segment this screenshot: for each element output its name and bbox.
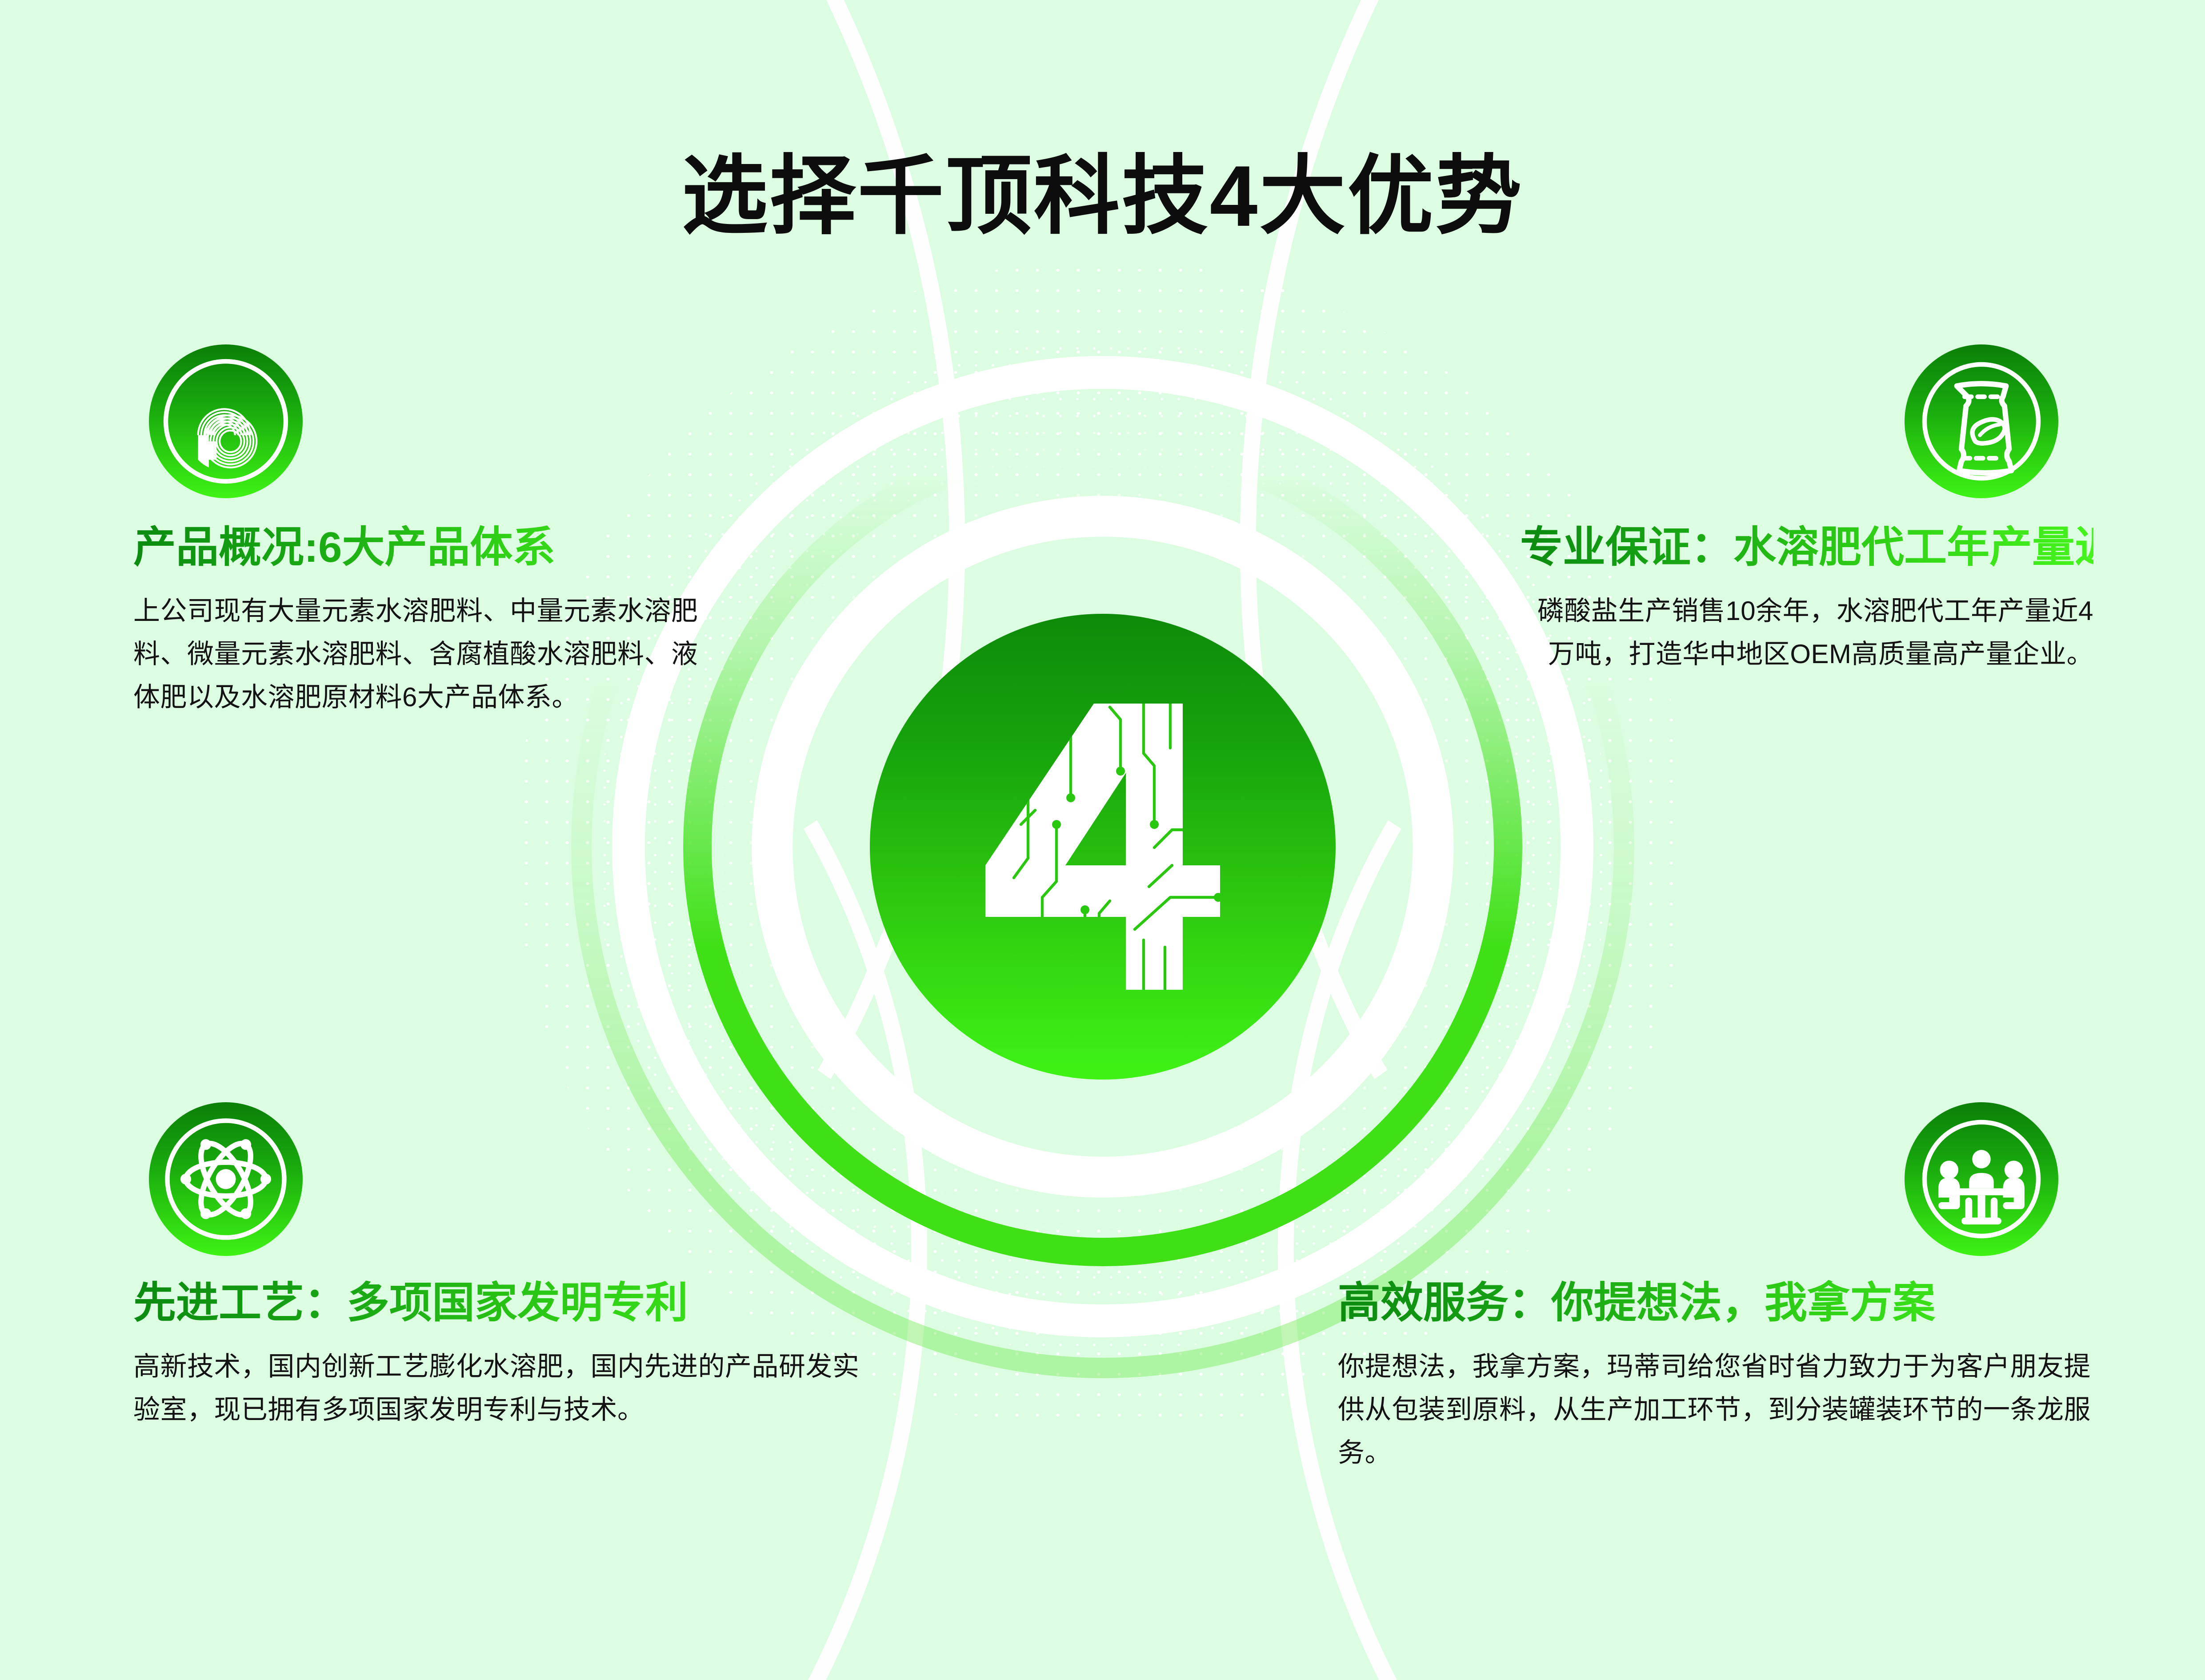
meeting-people-icon [1905, 1102, 2058, 1256]
advantage-body-4: 你提想法，我拿方案，玛蒂司给您省时省力致力于为客户朋友提供从包装到原料，从生产加… [1338, 1345, 2093, 1475]
center-number-badge [870, 614, 1336, 1080]
atom-icon [149, 1102, 303, 1256]
advantage-block-4: 高效服务：你提想法，我拿方案 你提想法，我拿方案，玛蒂司给您省时省力致力于为客户… [1338, 1280, 2093, 1474]
infographic-canvas: 选择千顶科技4大优势 [0, 0, 2205, 1680]
advantage-block-3: 先进工艺：多项国家发明专利 高新技术，国内创新工艺膨化水溶肥，国内先进的产品研发… [133, 1280, 876, 1431]
advantage-heading-2: 专业保证：水溶肥代工年产量近4万吨 [1520, 524, 2093, 571]
icon-badge-service [1905, 1102, 2058, 1256]
number-six-rings-icon [149, 344, 303, 498]
advantage-body-2: 磷酸盐生产销售10余年，水溶肥代工年产量近4万吨，打造华中地区OEM高质量高产量… [1520, 589, 2093, 676]
advantage-block-2: 专业保证：水溶肥代工年产量近4万吨 磷酸盐生产销售10余年，水溶肥代工年产量近4… [1520, 524, 2093, 676]
advantage-block-1: 产品概况:6大产品体系 上公司现有大量元素水溶肥料、中量元素水溶肥料、微量元素水… [133, 524, 724, 719]
fertilizer-bag-icon [1905, 344, 2058, 498]
advantage-heading-3: 先进工艺：多项国家发明专利 [133, 1280, 876, 1326]
page-title: 选择千顶科技4大优势 [0, 153, 2205, 240]
advantage-body-3: 高新技术，国内创新工艺膨化水溶肥，国内先进的产品研发实验室，现已拥有多项国家发明… [133, 1345, 876, 1431]
advantage-heading-4: 高效服务：你提想法，我拿方案 [1338, 1280, 2093, 1326]
icon-badge-technology [149, 1102, 303, 1256]
advantage-body-1: 上公司现有大量元素水溶肥料、中量元素水溶肥料、微量元素水溶肥料、含腐植酸水溶肥料… [133, 589, 724, 719]
center-number-four-icon [960, 691, 1245, 1002]
icon-badge-capacity [1905, 344, 2058, 498]
icon-badge-product-overview [149, 344, 303, 498]
advantage-heading-1: 产品概况:6大产品体系 [133, 524, 724, 571]
